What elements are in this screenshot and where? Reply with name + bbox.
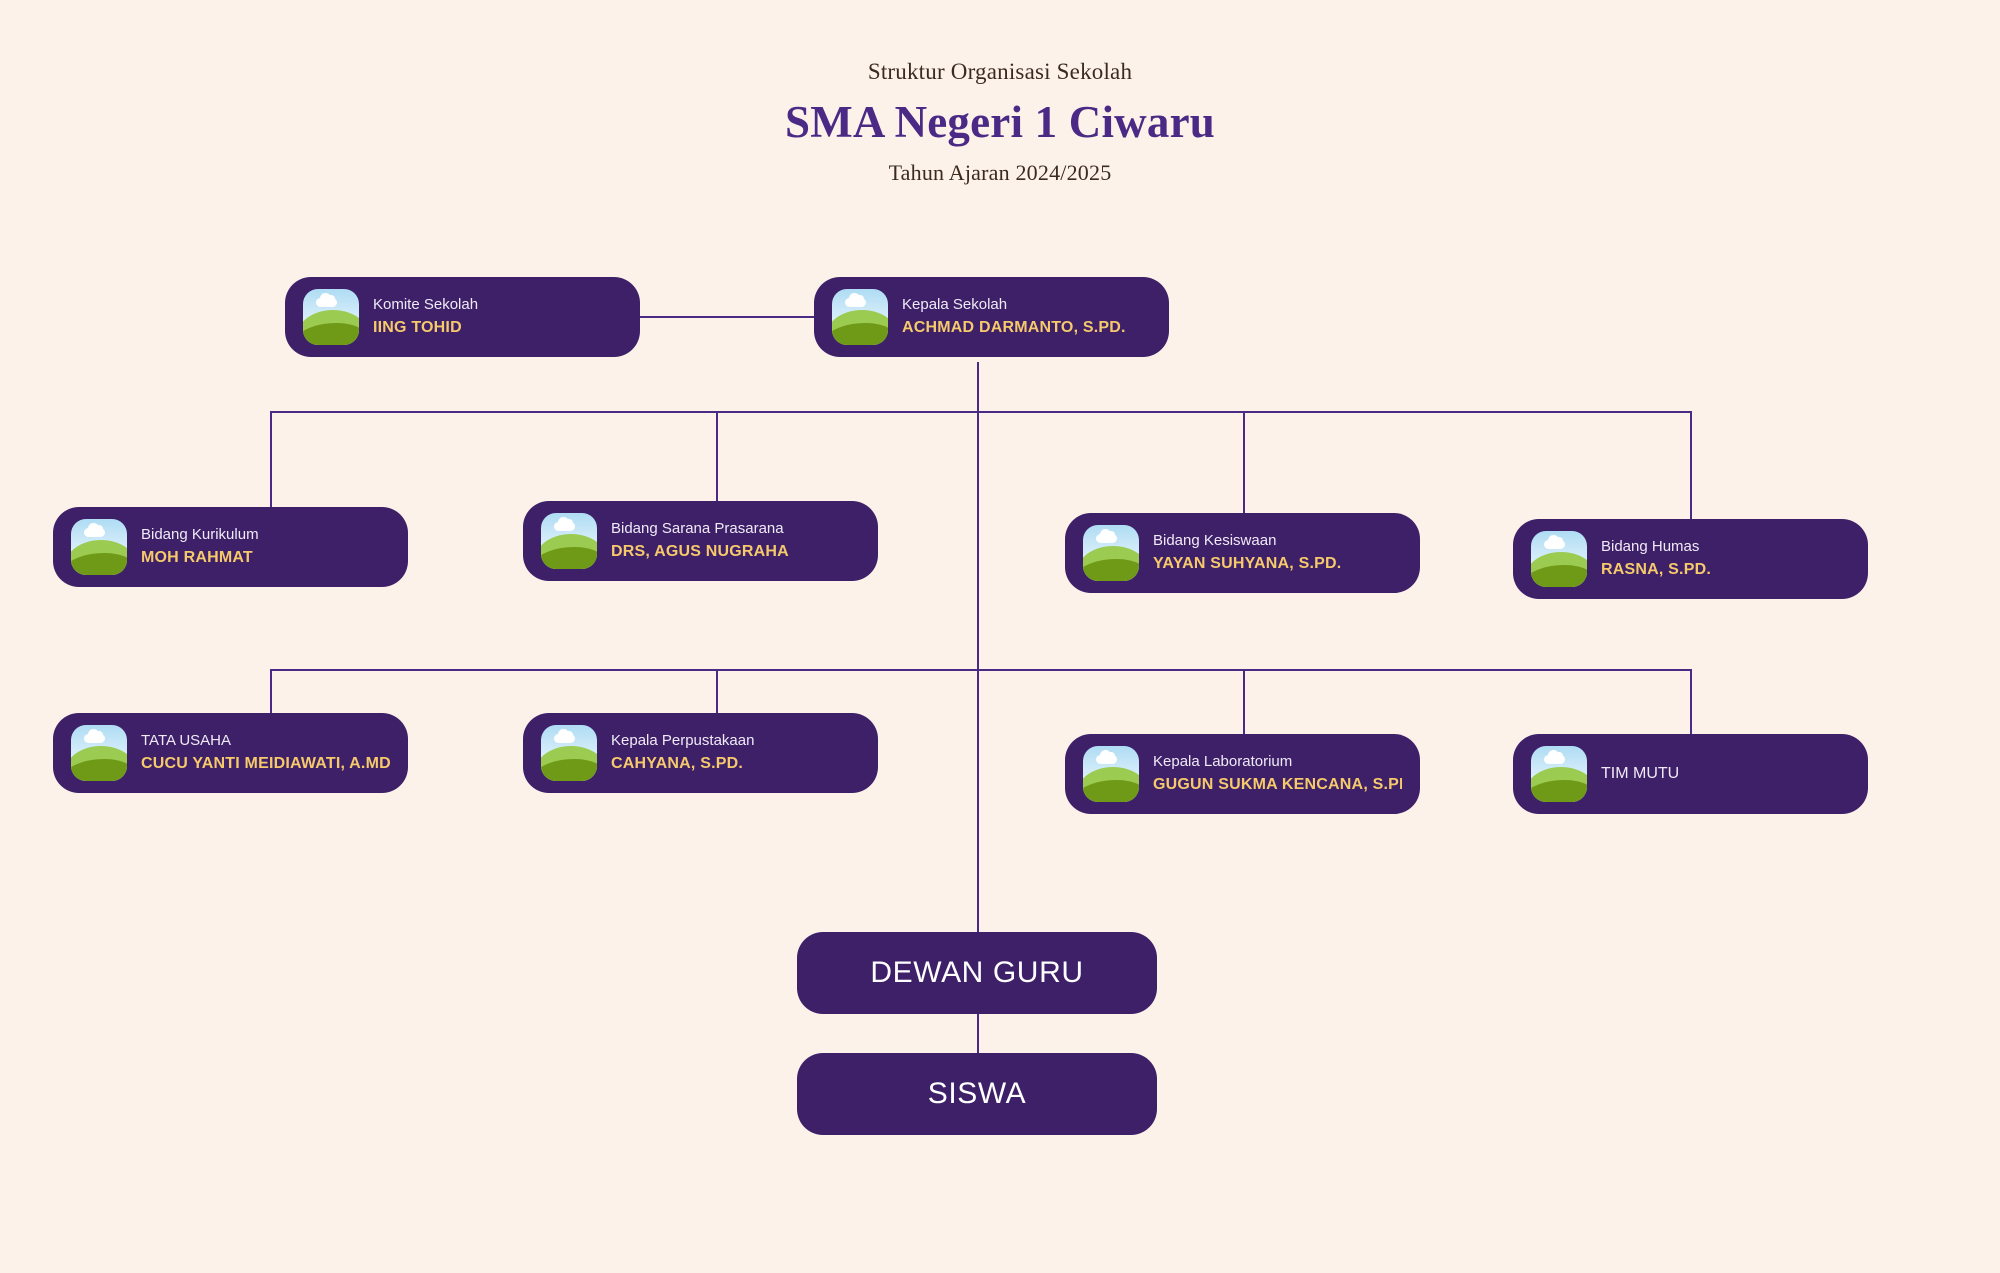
node-person-name: CUCU YANTI MEIDIAWATI, A.MD.	[141, 752, 390, 776]
chart-header: Struktur Organisasi Sekolah SMA Negeri 1…	[0, 55, 2000, 189]
node-siswa[interactable]: SISWA	[797, 1053, 1157, 1135]
node-role-label: Bidang Sarana Prasarana	[611, 518, 789, 541]
connector-drop-sarana	[716, 411, 718, 501]
node-bidang-sarana-prasarana[interactable]: Bidang Sarana Prasarana DRS, AGUS NUGRAH…	[523, 501, 878, 581]
node-dewan-guru[interactable]: DEWAN GURU	[797, 932, 1157, 1014]
hill-front-shape	[1083, 780, 1139, 802]
node-role-label: TIM MUTU	[1601, 762, 1679, 786]
node-person-name: IING TOHID	[373, 316, 478, 340]
cloud-icon	[1544, 540, 1565, 549]
node-kepala-sekolah[interactable]: Kepala Sekolah ACHMAD DARMANTO, S.PD.	[814, 277, 1169, 357]
node-text-block: Kepala Sekolah ACHMAD DARMANTO, S.PD.	[902, 294, 1126, 341]
landscape-photo-icon	[71, 519, 127, 575]
node-role-label: Bidang Kurikulum	[141, 524, 259, 547]
connector-drop-kurikulum	[270, 411, 272, 507]
node-person-name: GUGUN SUKMA KENCANA, S.PD.	[1153, 773, 1402, 797]
node-tim-mutu[interactable]: TIM MUTU	[1513, 734, 1868, 814]
node-bidang-kesiswaan[interactable]: Bidang Kesiswaan YAYAN SUHYANA, S.PD.	[1065, 513, 1420, 593]
node-komite-sekolah[interactable]: Komite Sekolah IING TOHID	[285, 277, 640, 357]
landscape-photo-icon	[1531, 531, 1587, 587]
landscape-photo-icon	[303, 289, 359, 345]
hill-front-shape	[71, 759, 127, 781]
connector-main-trunk	[977, 362, 979, 945]
node-text-block: TIM MUTU	[1601, 762, 1679, 786]
connector-drop-kesiswaan	[1243, 411, 1245, 513]
hill-front-shape	[541, 547, 597, 569]
node-role-label: Kepala Sekolah	[902, 294, 1126, 317]
node-person-name: ACHMAD DARMANTO, S.PD.	[902, 316, 1126, 340]
connector-komite-to-kepala	[636, 316, 818, 318]
connector-drop-perpustakaan	[716, 669, 718, 713]
hill-front-shape	[1531, 780, 1587, 802]
node-tata-usaha[interactable]: TATA USAHA CUCU YANTI MEIDIAWATI, A.MD.	[53, 713, 408, 793]
connector-bus-row2	[270, 411, 1690, 413]
landscape-photo-icon	[1083, 746, 1139, 802]
hill-front-shape	[541, 759, 597, 781]
cloud-icon	[84, 734, 105, 743]
connector-drop-tim-mutu	[1690, 669, 1692, 734]
node-person-name: RASNA, S.PD.	[1601, 558, 1711, 582]
hill-front-shape	[71, 553, 127, 575]
node-text-block: Bidang Humas RASNA, S.PD.	[1601, 536, 1711, 583]
connector-bus-row3	[270, 669, 1690, 671]
node-text-block: Komite Sekolah IING TOHID	[373, 294, 478, 341]
cloud-icon	[1096, 534, 1117, 543]
node-person-name: DRS, AGUS NUGRAHA	[611, 540, 789, 564]
landscape-photo-icon	[832, 289, 888, 345]
landscape-photo-icon	[71, 725, 127, 781]
node-text-block: Kepala Laboratorium GUGUN SUKMA KENCANA,…	[1153, 751, 1402, 798]
node-person-name: MOH RAHMAT	[141, 546, 259, 570]
landscape-photo-icon	[1083, 525, 1139, 581]
hill-front-shape	[1531, 565, 1587, 587]
connector-drop-humas	[1690, 411, 1692, 519]
chart-subtitle: Tahun Ajaran 2024/2025	[0, 156, 2000, 189]
node-role-label: TATA USAHA	[141, 730, 390, 753]
landscape-photo-icon	[541, 725, 597, 781]
connector-drop-tata-usaha	[270, 669, 272, 713]
node-text-block: Bidang Sarana Prasarana DRS, AGUS NUGRAH…	[611, 518, 789, 565]
node-role-label: Kepala Laboratorium	[1153, 751, 1402, 774]
node-text-block: TATA USAHA CUCU YANTI MEIDIAWATI, A.MD.	[141, 730, 390, 777]
node-bidang-humas[interactable]: Bidang Humas RASNA, S.PD.	[1513, 519, 1868, 599]
node-role-label: Komite Sekolah	[373, 294, 478, 317]
cloud-icon	[1544, 755, 1565, 764]
hill-front-shape	[1083, 559, 1139, 581]
chart-supertitle: Struktur Organisasi Sekolah	[0, 55, 2000, 90]
node-role-label: Kepala Perpustakaan	[611, 730, 754, 753]
hill-front-shape	[303, 323, 359, 345]
landscape-photo-icon	[541, 513, 597, 569]
cloud-icon	[316, 298, 337, 307]
node-bidang-kurikulum[interactable]: Bidang Kurikulum MOH RAHMAT	[53, 507, 408, 587]
cloud-icon	[1096, 755, 1117, 764]
connector-dewanguru-to-siswa	[977, 1013, 979, 1058]
node-person-name: CAHYANA, S.PD.	[611, 752, 754, 776]
node-text-block: Bidang Kurikulum MOH RAHMAT	[141, 524, 259, 571]
node-role-label: Bidang Kesiswaan	[1153, 530, 1341, 553]
cloud-icon	[554, 522, 575, 531]
node-kepala-laboratorium[interactable]: Kepala Laboratorium GUGUN SUKMA KENCANA,…	[1065, 734, 1420, 814]
landscape-photo-icon	[1531, 746, 1587, 802]
node-person-name: YAYAN SUHYANA, S.PD.	[1153, 552, 1341, 576]
hill-front-shape	[832, 323, 888, 345]
node-text-block: Bidang Kesiswaan YAYAN SUHYANA, S.PD.	[1153, 530, 1341, 577]
cloud-icon	[845, 298, 866, 307]
node-role-label: Bidang Humas	[1601, 536, 1711, 559]
org-chart-canvas: Struktur Organisasi Sekolah SMA Negeri 1…	[0, 0, 2000, 1273]
cloud-icon	[84, 528, 105, 537]
node-kepala-perpustakaan[interactable]: Kepala Perpustakaan CAHYANA, S.PD.	[523, 713, 878, 793]
node-text-block: Kepala Perpustakaan CAHYANA, S.PD.	[611, 730, 754, 777]
page-title: SMA Negeri 1 Ciwaru	[0, 92, 2000, 153]
cloud-icon	[554, 734, 575, 743]
connector-drop-laboratorium	[1243, 669, 1245, 734]
